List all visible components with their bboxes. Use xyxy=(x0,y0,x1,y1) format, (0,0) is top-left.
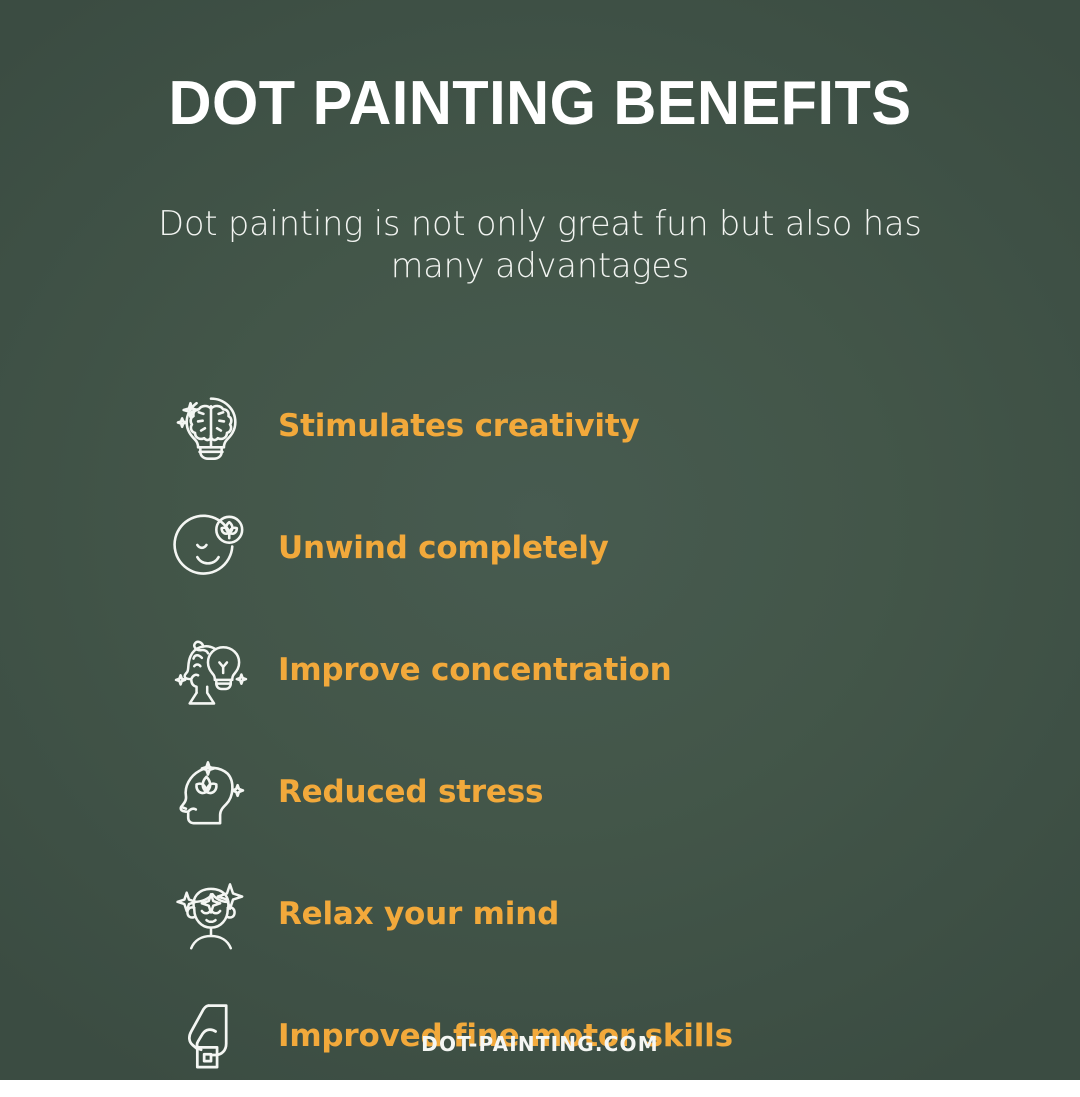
infographic-poster: DOT PAINTING BENEFITS Dot painting is no… xyxy=(0,0,1080,1080)
list-item: Reduced stress xyxy=(168,731,920,853)
head-lightbulb-idea-icon xyxy=(168,627,254,713)
page-title: DOT PAINTING BENEFITS xyxy=(168,72,911,135)
benefits-list: Stimulates creativity Unwind completely xyxy=(160,365,920,1097)
benefit-label: Relax your mind xyxy=(278,899,559,930)
head-lotus-flower-icon xyxy=(168,749,254,835)
footer-website: DOT-PAINTING.COM xyxy=(0,1032,1080,1056)
benefit-label: Unwind completely xyxy=(278,533,609,564)
lightbulb-brain-icon xyxy=(168,383,254,469)
benefit-label: Reduced stress xyxy=(278,777,543,808)
list-item: Unwind completely xyxy=(168,487,920,609)
list-item: Improve concentration xyxy=(168,609,920,731)
page-subtitle: Dot painting is not only great fun but a… xyxy=(145,203,935,288)
benefit-label: Stimulates creativity xyxy=(278,411,640,442)
benefit-label: Improve concentration xyxy=(278,655,672,686)
list-item: Stimulates creativity xyxy=(168,365,920,487)
calm-person-sparkles-icon xyxy=(168,871,254,957)
list-item: Relax your mind xyxy=(168,853,920,975)
smiling-face-flower-icon xyxy=(168,505,254,591)
